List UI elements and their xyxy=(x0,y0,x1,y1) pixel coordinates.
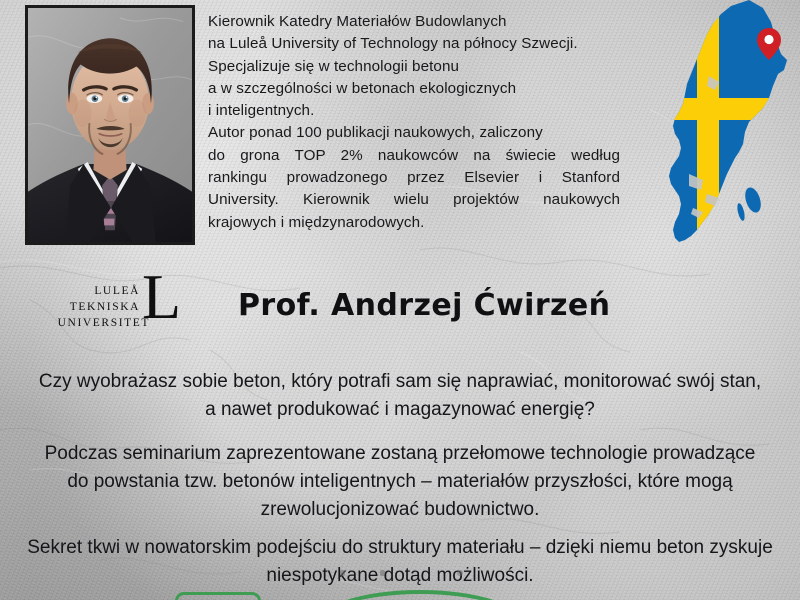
bio-line: Specjalizuje się w technologii betonu xyxy=(208,56,620,78)
bio-line: a w szczególności w betonach ekologiczny… xyxy=(208,78,620,100)
seminar-description-paragraph: Podczas seminarium zaprezentowane zostan… xyxy=(0,440,800,524)
bottom-mark-mid xyxy=(380,570,385,576)
bio-line: University. Kierownik wielu projektów na… xyxy=(208,189,620,211)
logo-line-1: LULEÅ xyxy=(94,283,140,297)
bio-line: Autor ponad 100 publikacji naukowych, za… xyxy=(208,122,620,144)
paragraph-line: Podczas seminarium zaprezentowane zostan… xyxy=(0,440,800,468)
speaker-portrait-photo xyxy=(25,5,195,245)
paragraph-line: niespotykane dotąd możliwości. xyxy=(0,562,800,590)
bio-line: krajowych i międzynarodowych. xyxy=(208,212,620,234)
bio-line: na Luleå University of Technology na pół… xyxy=(208,33,620,55)
lulea-university-logo: L LULEÅ TEKNISKA UNIVERSITET xyxy=(58,262,208,332)
intro-question-paragraph: Czy wyobrażasz sobie beton, który potraf… xyxy=(0,368,800,424)
paragraph-line: a nawet produkować i magazynować energię… xyxy=(0,396,800,424)
bio-line: do grona TOP 2% naukowców na świecie wed… xyxy=(208,145,620,167)
paragraph-line: Czy wyobrażasz sobie beton, który potraf… xyxy=(0,368,800,396)
green-rounded-rect-decoration xyxy=(175,592,261,600)
paragraph-line: zrewolucjonizować budownictwo. xyxy=(0,496,800,524)
bio-line: Kierownik Katedry Materiałów Budowlanych xyxy=(208,11,620,33)
bottom-mark-right xyxy=(457,570,463,576)
speaker-bio-text: Kierownik Katedry Materiałów Budowlanych… xyxy=(208,11,620,234)
speaker-name-title: Prof. Andrzej Ćwirzeń xyxy=(238,288,610,323)
sweden-map-graphic xyxy=(645,0,800,256)
paragraph-line: do powstania tzw. betonów inteligentnych… xyxy=(0,468,800,496)
secret-paragraph: Sekret tkwi w nowatorskim podejściu do s… xyxy=(0,534,800,590)
seminar-poster-slide: Kierownik Katedry Materiałów Budowlanych… xyxy=(0,0,800,600)
bottom-mark-left xyxy=(340,570,345,576)
logo-line-3: UNIVERSITET xyxy=(58,317,150,329)
logo-line-2: TEKNISKA xyxy=(70,301,140,313)
bio-line: i inteligentnych. xyxy=(208,100,620,122)
paragraph-line: Sekret tkwi w nowatorskim podejściu do s… xyxy=(0,534,800,562)
green-ellipse-decoration xyxy=(315,590,525,600)
bio-line: rankingu prowadzonego przez Elsevier i S… xyxy=(208,167,620,189)
